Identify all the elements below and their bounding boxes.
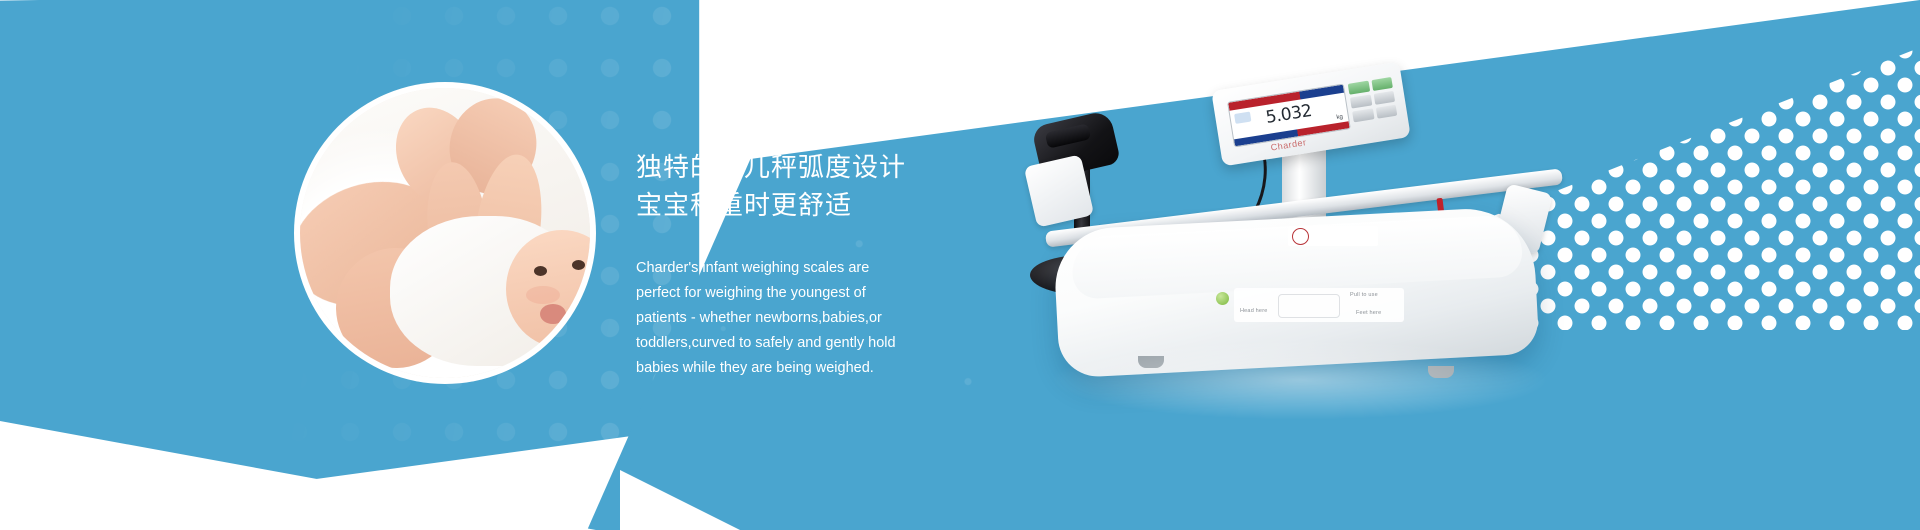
label-head-here: Head here [1240,308,1268,314]
copy-block: 独特的婴儿秤弧度设计 宝宝称重时更舒适 Charder's infant wei… [636,148,1056,381]
key-6[interactable] [1375,105,1397,119]
label-feet-here: Feet here [1356,310,1381,316]
key-5[interactable] [1352,108,1374,122]
headline: 独特的婴儿秤弧度设计 宝宝称重时更舒适 [636,148,1056,224]
key-green-2[interactable] [1371,77,1393,91]
scale-display-unit: 5.032 kg Charder [1211,62,1411,167]
power-led-indicator [1216,292,1229,305]
baby-mouth [540,304,566,324]
baby-eye-right [572,260,585,270]
warning-icon [1292,228,1309,245]
display-keypad[interactable] [1348,77,1398,122]
weight-unit: kg [1336,114,1343,121]
key-4[interactable] [1373,91,1395,105]
baby-cheek [526,286,560,304]
key-3[interactable] [1350,95,1372,109]
product-glow [1050,340,1550,420]
description-paragraph: Charder's infant weighing scales are per… [636,256,908,381]
hero-banner: 独特的婴儿秤弧度设计 宝宝称重时更舒适 Charder's infant wei… [0,0,1920,530]
baby-eye-left [534,266,547,276]
headline-line-2: 宝宝称重时更舒适 [636,186,1056,224]
infant-scale-product: 5.032 kg Charder Head here Feet [1020,40,1780,480]
baby-photo-circle [300,88,590,378]
display-screen: 5.032 kg [1227,84,1351,148]
tray-logo [1278,294,1340,318]
label-pull-to-use: Pull to use [1350,292,1378,298]
headline-line-1: 独特的婴儿秤弧度设计 [636,148,1056,186]
key-green-1[interactable] [1348,81,1370,95]
